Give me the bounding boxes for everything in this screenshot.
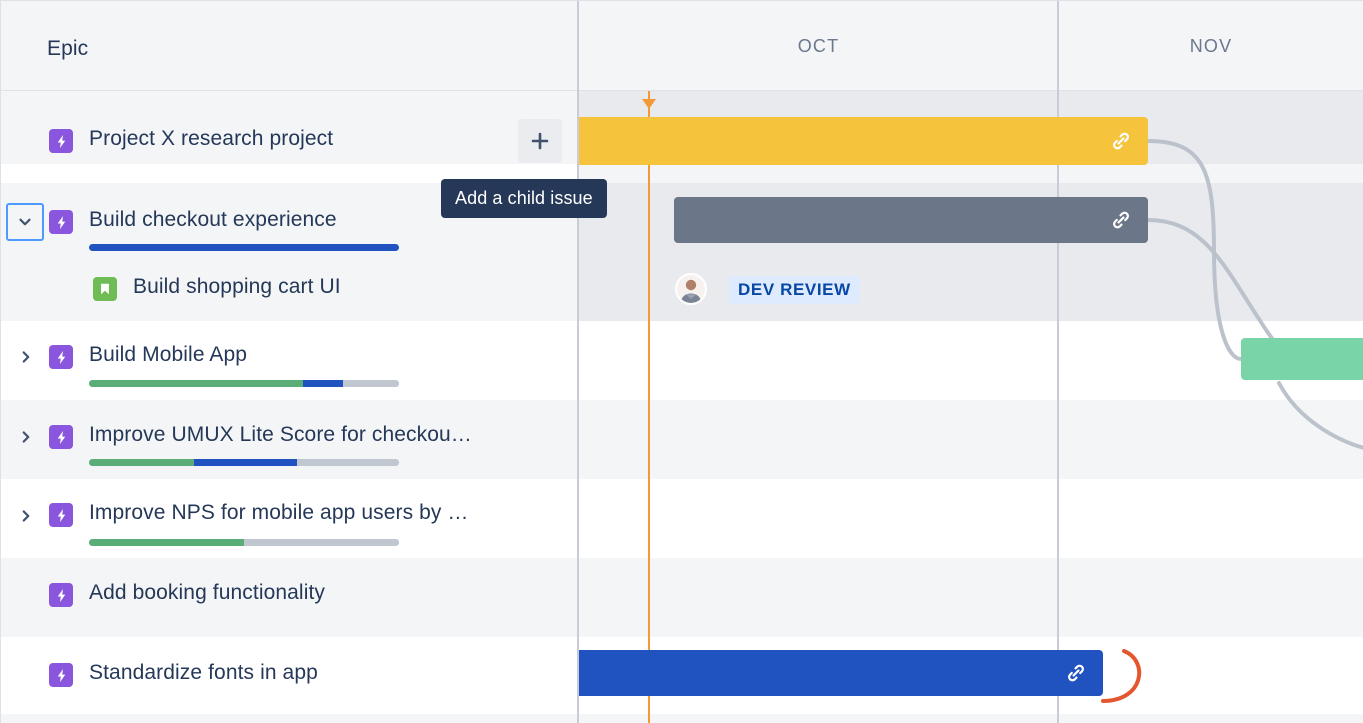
progress-segment-in-progress (194, 459, 296, 466)
avatar-image (677, 275, 705, 303)
list-item-title: Project X research project (89, 127, 333, 151)
chevron-right-icon (17, 507, 35, 525)
expand-collapse-button-build-mobile-app[interactable] (15, 346, 37, 368)
timeline-bar-build-mobile-app[interactable] (1241, 338, 1363, 380)
epic-icon (49, 129, 73, 153)
status-badge: DEV REVIEW (729, 276, 860, 304)
month-column-oct[interactable]: OCT (579, 1, 1058, 91)
expand-collapse-button-improve-umux[interactable] (15, 426, 37, 448)
epic-icon (49, 425, 73, 449)
progress-bar-improve-umux (89, 459, 399, 466)
timeline-row-spacer-1 (579, 164, 1363, 183)
progress-segment-done (89, 459, 194, 466)
progress-segment-done (89, 539, 244, 546)
month-label: OCT (798, 36, 840, 57)
progress-segment-in-progress (89, 244, 399, 251)
progress-bar-build-mobile-app (89, 380, 399, 387)
epic-column-header-label: Epic (47, 37, 88, 61)
list-item-title: Build Mobile App (89, 343, 247, 367)
timeline-row-add-booking (579, 558, 1363, 637)
list-item-title: Improve NPS for mobile app users by … (89, 501, 469, 525)
epic-icon (49, 503, 73, 527)
list-item-title: Build checkout experience (89, 208, 337, 232)
chevron-right-icon (17, 348, 35, 366)
today-marker-triangle (642, 99, 656, 109)
epic-icon (49, 210, 73, 234)
timeline-bar-project-x[interactable] (579, 117, 1148, 165)
timeline-row-improve-umux (579, 400, 1363, 479)
add-child-issue-tooltip: Add a child issue (441, 179, 607, 218)
timeline-panel: OCT NOV (579, 1, 1363, 723)
chevron-down-icon (16, 213, 34, 231)
expand-collapse-button-build-checkout[interactable] (6, 203, 44, 241)
list-row-spacer-2 (1, 714, 577, 723)
avatar[interactable] (675, 273, 707, 305)
epic-icon (49, 583, 73, 607)
progress-segment-todo (244, 539, 399, 546)
epic-icon (49, 663, 73, 687)
progress-segment-todo (343, 380, 399, 387)
list-row-build-mobile-app-bg (1, 321, 577, 400)
list-item-title: Build shopping cart UI (133, 275, 341, 299)
timeline-bar-standardize-fonts[interactable] (579, 650, 1103, 696)
chevron-right-icon (17, 428, 35, 446)
plus-icon (528, 129, 552, 153)
progress-segment-done (89, 380, 303, 387)
month-column-nov[interactable]: NOV (1058, 1, 1363, 91)
list-item-title: Improve UMUX Lite Score for checkou… (89, 423, 472, 447)
progress-bar-improve-nps (89, 539, 399, 546)
progress-bar-build-checkout (89, 244, 399, 251)
timeline-roadmap-view: OCT NOV (0, 0, 1363, 723)
progress-segment-in-progress (303, 380, 343, 387)
timeline-bar-build-checkout[interactable] (674, 197, 1148, 243)
epic-icon (49, 345, 73, 369)
story-icon (93, 277, 117, 301)
link-icon[interactable] (1108, 128, 1134, 154)
link-icon[interactable] (1108, 207, 1134, 233)
add-child-issue-button[interactable] (518, 119, 562, 163)
list-item-title: Standardize fonts in app (89, 661, 318, 685)
month-divider (1057, 1, 1059, 723)
today-line (648, 91, 650, 723)
link-icon[interactable] (1063, 660, 1089, 686)
expand-collapse-button-improve-nps[interactable] (15, 505, 37, 527)
timeline-row-spacer-2 (579, 714, 1363, 723)
epic-list-panel: Epic Project X research project Add a ch… (1, 1, 579, 723)
timeline-row-improve-nps (579, 479, 1363, 558)
progress-segment-todo (297, 459, 399, 466)
list-item-title: Add booking functionality (89, 581, 325, 605)
month-label: NOV (1190, 36, 1233, 57)
